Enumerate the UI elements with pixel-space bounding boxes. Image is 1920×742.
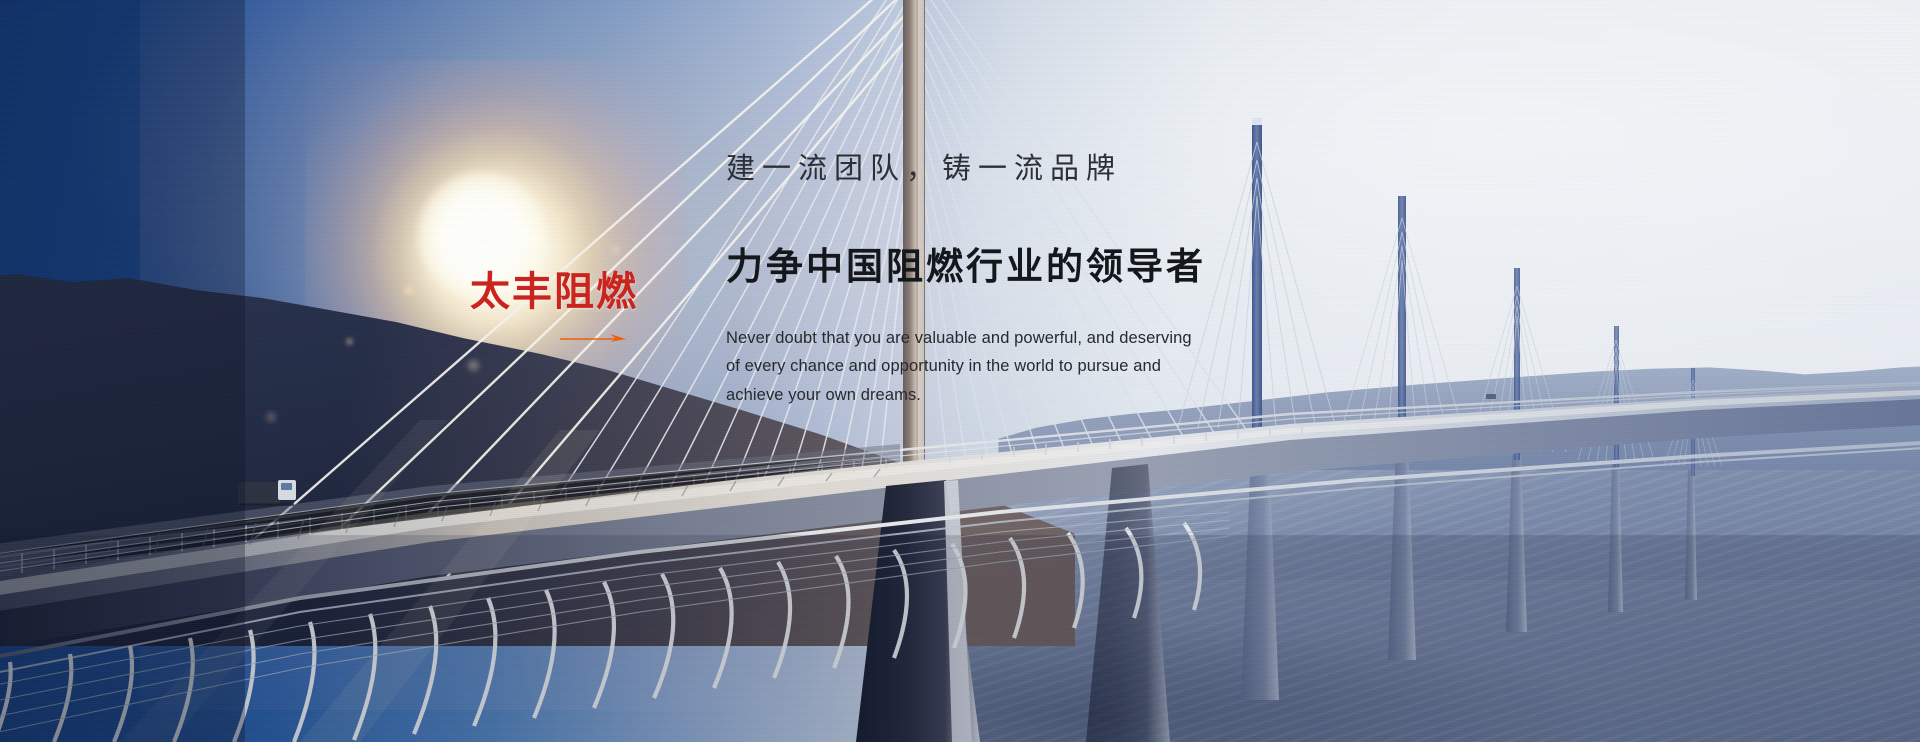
headline-english-paragraph: Never doubt that you are valuable and po…: [726, 324, 1196, 409]
banner-content: 太丰阻燃 建一流团队，铸一流品牌 力争中国阻燃行业的领导者 Never doub…: [0, 0, 1920, 742]
arrow-right-icon: [560, 332, 628, 344]
headline-title: 力争中国阻燃行业的领导者: [726, 247, 1426, 288]
headline-block: 建一流团队，铸一流品牌 力争中国阻燃行业的领导者 Never doubt tha…: [726, 152, 1426, 409]
brand-logo[interactable]: 太丰阻燃: [470, 272, 670, 312]
hero-banner: 太丰阻燃 建一流团队，铸一流品牌 力争中国阻燃行业的领导者 Never doub…: [0, 0, 1920, 742]
headline-subtitle: 建一流团队，铸一流品牌: [726, 152, 1426, 185]
brand-logo-text: 太丰阻燃: [470, 272, 670, 312]
